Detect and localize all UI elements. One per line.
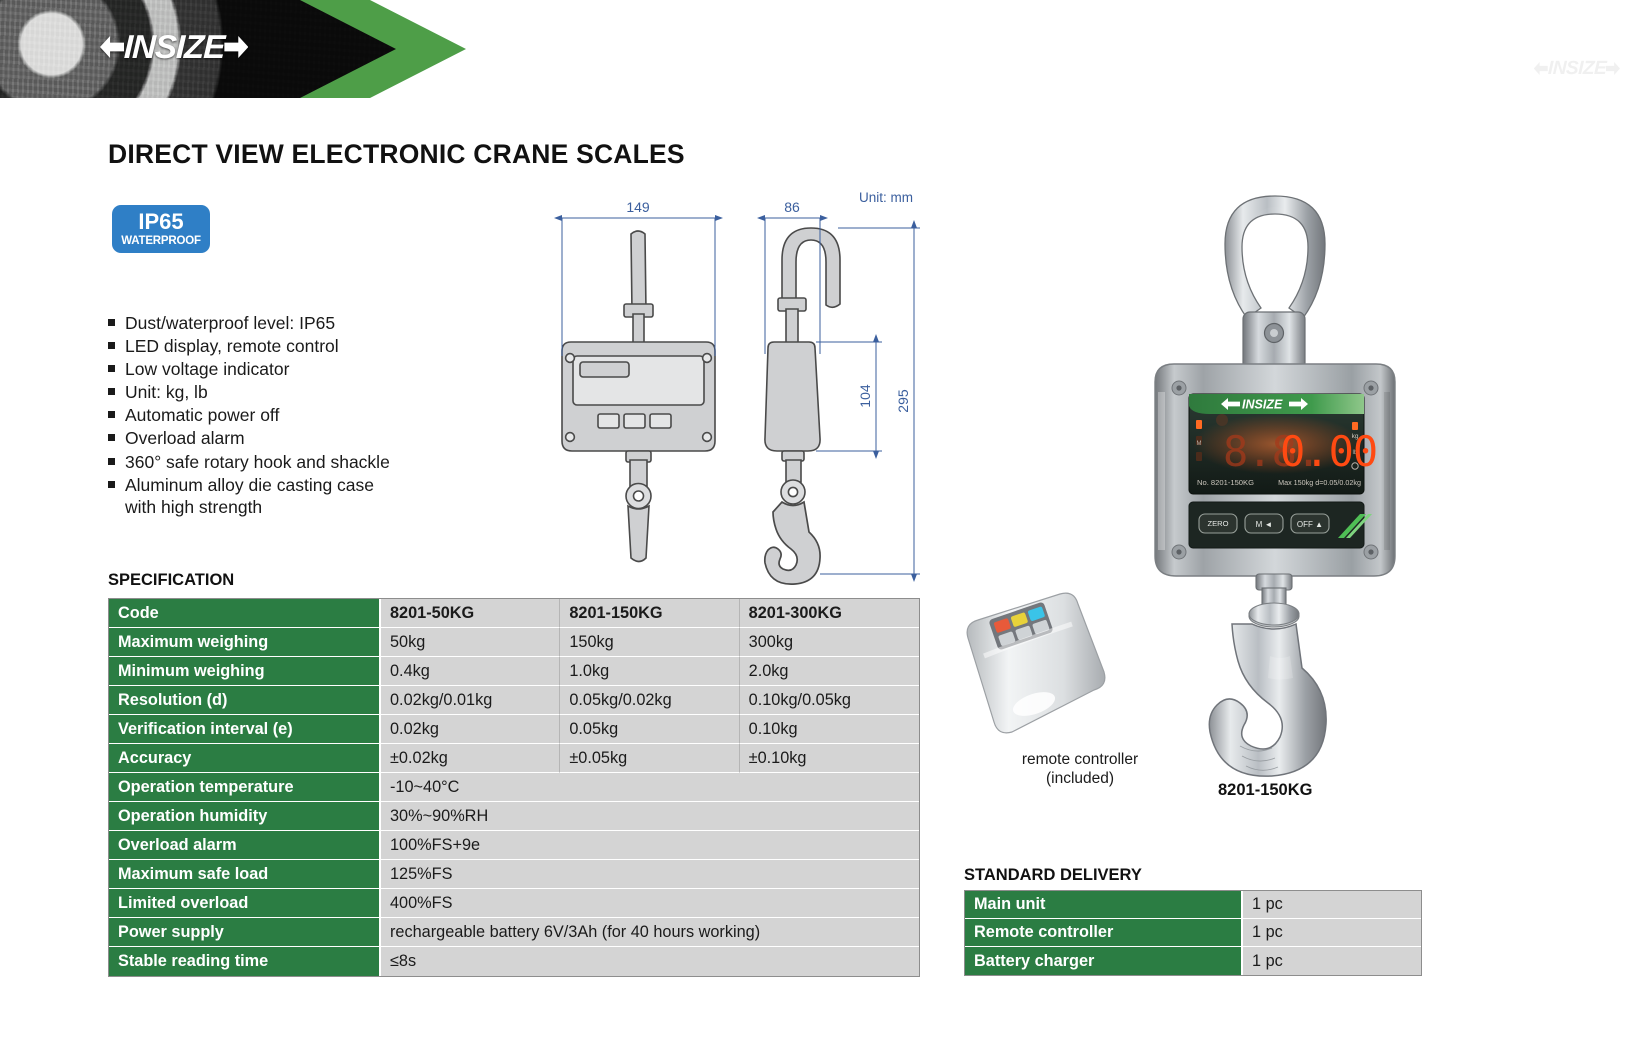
spec-row-value: 300kg <box>740 628 919 657</box>
display-faceplate: INSIZE M kg lb 8.8. 0.00 No. 8201-150KG … <box>1189 394 1377 494</box>
feature-label: Dust/waterproof level: IP65 <box>125 312 335 335</box>
standard-delivery-table: Main unit1 pcRemote controller1 pcBatter… <box>964 890 1422 976</box>
bullet-square-icon <box>108 388 115 395</box>
page-header-banner: INSIZE INSIZE <box>0 0 1632 98</box>
arrow-right-icon <box>1606 62 1620 75</box>
spec-row-value: 1.0kg <box>560 657 739 686</box>
feature-item: Automatic power off <box>108 404 528 427</box>
table-row: Code8201-50KG8201-150KG8201-300KG <box>109 599 919 628</box>
delivery-item-label: Main unit <box>965 891 1243 919</box>
spec-row-value: 0.02kg/0.01kg <box>381 686 560 715</box>
feature-label: Automatic power off <box>125 404 279 427</box>
spec-row-label: Operation humidity <box>109 802 381 831</box>
feature-list: Dust/waterproof level: IP65LED display, … <box>108 312 528 519</box>
spec-row-label: Code <box>109 599 381 628</box>
ip65-waterproof-badge: IP65 WATERPROOF <box>112 205 210 253</box>
spec-row-value: 125%FS <box>381 860 919 889</box>
table-row: Maximum safe load125%FS <box>109 860 919 889</box>
page-title: DIRECT VIEW ELECTRONIC CRANE SCALES <box>108 139 685 170</box>
spec-row-value: 0.4kg <box>381 657 560 686</box>
spec-row-value: ±0.10kg <box>740 744 919 773</box>
table-row: Battery charger1 pc <box>965 947 1421 975</box>
spec-row-value: 8201-50KG <box>381 599 560 628</box>
table-row: Main unit1 pc <box>965 891 1421 919</box>
feature-label: LED display, remote control <box>125 335 339 358</box>
led-display-value: 0.00 <box>1280 427 1377 476</box>
feature-item: LED display, remote control <box>108 335 528 358</box>
table-row: Resolution (d)0.02kg/0.01kg0.05kg/0.02kg… <box>109 686 919 715</box>
logo-wordmark: INSIZE <box>124 36 225 58</box>
spec-row-value: 0.05kg <box>560 715 739 744</box>
waterproof-text: WATERPROOF <box>121 236 201 248</box>
capacity-label: Max 150kg d=0.05/0.02kg <box>1278 478 1361 487</box>
button-mode-label: M ◄ <box>1256 520 1273 529</box>
remote-controller-caption: remote controller (included) <box>1000 750 1160 788</box>
table-row: Operation humidity30%~90%RH <box>109 802 919 831</box>
delivery-item-label: Remote controller <box>965 919 1243 947</box>
bottom-swivel <box>1249 574 1299 627</box>
feature-item: Dust/waterproof level: IP65 <box>108 312 528 335</box>
bullet-square-icon <box>108 411 115 418</box>
spec-row-value: 100%FS+9e <box>381 831 919 860</box>
dim-label-104: 104 <box>857 384 873 408</box>
table-row: Stable reading time≤8s <box>109 947 919 976</box>
table-row: Verification interval (e)0.02kg0.05kg0.1… <box>109 715 919 744</box>
spec-row-label: Accuracy <box>109 744 381 773</box>
faceplate-brand-text: INSIZE <box>1242 398 1283 412</box>
spec-row-label: Minimum weighing <box>109 657 381 686</box>
bullet-square-icon <box>108 481 115 488</box>
spec-row-value: 0.02kg <box>381 715 560 744</box>
button-mode: M ◄ <box>1245 514 1283 533</box>
spec-row-label: Power supply <box>109 918 381 947</box>
button-off: OFF ▲ <box>1291 514 1329 533</box>
feature-item: 360° safe rotary hook and shackle <box>108 451 528 474</box>
table-row: Power supplyrechargeable battery 6V/3Ah … <box>109 918 919 947</box>
bullet-square-icon <box>108 458 115 465</box>
spec-row-value: ±0.05kg <box>560 744 739 773</box>
standard-delivery-heading: STANDARD DELIVERY <box>964 866 1142 885</box>
arrow-left-icon <box>1534 62 1548 75</box>
specification-table: Code8201-50KG8201-150KG8201-300KGMaximum… <box>108 598 920 977</box>
product-model-caption: 8201-150KG <box>1218 781 1312 800</box>
spec-row-label: Stable reading time <box>109 947 381 976</box>
feature-label: Overload alarm <box>125 427 245 450</box>
spec-row-label: Overload alarm <box>109 831 381 860</box>
spec-row-label: Resolution (d) <box>109 686 381 715</box>
delivery-item-qty: 1 pc <box>1243 891 1421 919</box>
dimension-drawing: 149 86 104 295 <box>520 186 930 581</box>
feature-label: Low voltage indicator <box>125 358 289 381</box>
remote-controller-photo <box>967 593 1105 733</box>
feature-label: 360° safe rotary hook and shackle <box>125 451 390 474</box>
spec-row-value: ±0.02kg <box>381 744 560 773</box>
insize-logo: INSIZE <box>100 36 248 58</box>
bullet-square-icon <box>108 342 115 349</box>
table-row: Remote controller1 pc <box>965 919 1421 947</box>
feature-item: Low voltage indicator <box>108 358 528 381</box>
arrow-left-icon <box>100 36 124 58</box>
delivery-item-qty: 1 pc <box>1243 947 1421 975</box>
feature-label: Unit: kg, lb <box>125 381 208 404</box>
spec-row-value: 150kg <box>560 628 739 657</box>
spec-row-value: 400%FS <box>381 889 919 918</box>
top-shackle-ring <box>1225 196 1325 318</box>
spec-row-value: 0.10kg <box>740 715 919 744</box>
spec-row-value: rechargeable battery 6V/3Ah (for 40 hour… <box>381 918 919 947</box>
spec-row-label: Operation temperature <box>109 773 381 802</box>
header-white-chevron <box>370 0 1632 98</box>
bullet-square-icon <box>108 365 115 372</box>
watermark-wordmark: INSIZE <box>1548 62 1607 75</box>
spec-row-value: 2.0kg <box>740 657 919 686</box>
specification-heading: SPECIFICATION <box>108 571 234 590</box>
table-row: Overload alarm100%FS+9e <box>109 831 919 860</box>
svg-text:M: M <box>1197 441 1202 447</box>
spec-row-value: 30%~90%RH <box>381 802 919 831</box>
spec-row-label: Maximum weighing <box>109 628 381 657</box>
model-number-label: No. 8201-150KG <box>1197 478 1254 487</box>
button-zero-label: ZERO <box>1207 519 1228 528</box>
table-row: Maximum weighing50kg150kg300kg <box>109 628 919 657</box>
insize-watermark: INSIZE <box>1534 62 1620 75</box>
spec-row-value: 0.10kg/0.05kg <box>740 686 919 715</box>
spec-row-value: 8201-150KG <box>560 599 739 628</box>
product-photo: INSIZE M kg lb 8.8. 0.00 No. 8201-150KG … <box>940 186 1630 806</box>
delivery-item-label: Battery charger <box>965 947 1243 975</box>
table-row: Minimum weighing0.4kg1.0kg2.0kg <box>109 657 919 686</box>
ip65-rating-text: IP65 <box>138 211 183 233</box>
feature-item: Aluminum alloy die casting case with hig… <box>108 474 528 519</box>
dim-label-149: 149 <box>626 199 650 215</box>
feature-item: Overload alarm <box>108 427 528 450</box>
feature-label: Aluminum alloy die casting case with hig… <box>125 474 374 519</box>
dim-label-86: 86 <box>784 199 800 215</box>
spec-row-value: ≤8s <box>381 947 919 976</box>
low-voltage-indicator-leds: M <box>1196 420 1202 461</box>
bottom-hook <box>1209 624 1326 776</box>
spec-row-label: Limited overload <box>109 889 381 918</box>
table-row: Accuracy±0.02kg±0.05kg±0.10kg <box>109 744 919 773</box>
button-off-label: OFF ▲ <box>1297 520 1323 529</box>
table-row: Operation temperature-10~40°C <box>109 773 919 802</box>
spec-row-value: 8201-300KG <box>740 599 919 628</box>
spec-row-value: 50kg <box>381 628 560 657</box>
spec-row-label: Verification interval (e) <box>109 715 381 744</box>
spec-row-value: -10~40°C <box>381 773 919 802</box>
dim-label-295: 295 <box>895 389 911 413</box>
feature-item: Unit: kg, lb <box>108 381 528 404</box>
spec-row-value: 0.05kg/0.02kg <box>560 686 739 715</box>
delivery-item-qty: 1 pc <box>1243 919 1421 947</box>
arrow-right-icon <box>224 36 248 58</box>
bullet-square-icon <box>108 319 115 326</box>
table-row: Limited overload400%FS <box>109 889 919 918</box>
button-zero: ZERO <box>1199 514 1237 533</box>
spec-row-label: Maximum safe load <box>109 860 381 889</box>
keypad-panel: ZERO M ◄ OFF ▲ <box>1189 502 1372 548</box>
bullet-square-icon <box>108 434 115 441</box>
